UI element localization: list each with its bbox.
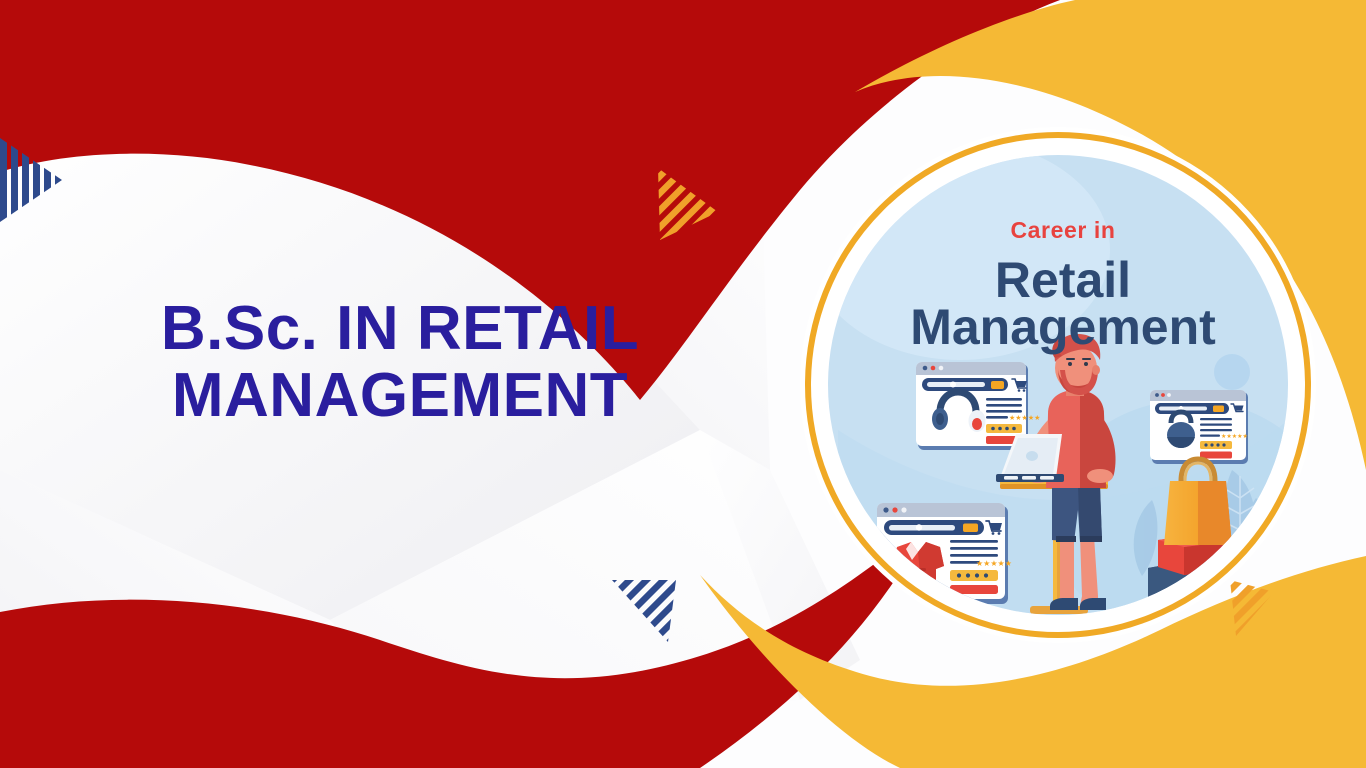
svg-text:★★★★★: ★★★★★	[976, 559, 1012, 568]
product-card-kettlebell: ★★★★★	[1150, 390, 1248, 464]
page-title: B.Sc. IN RETAIL MANAGEMENT	[60, 296, 740, 430]
slide-title-block: B.Sc. IN RETAIL MANAGEMENT	[60, 296, 740, 430]
illustration-heading-small: Career in	[1010, 217, 1115, 243]
svg-text:★★★★★: ★★★★★	[1221, 433, 1248, 440]
title-slide: ★★★★★	[0, 0, 1366, 768]
buy-button	[1200, 452, 1232, 459]
rating-stars: ★★★★★	[1009, 414, 1040, 422]
svg-text:★★★★★: ★★★★★	[1009, 414, 1040, 422]
illustration-heading-line-2: Management	[910, 299, 1216, 355]
